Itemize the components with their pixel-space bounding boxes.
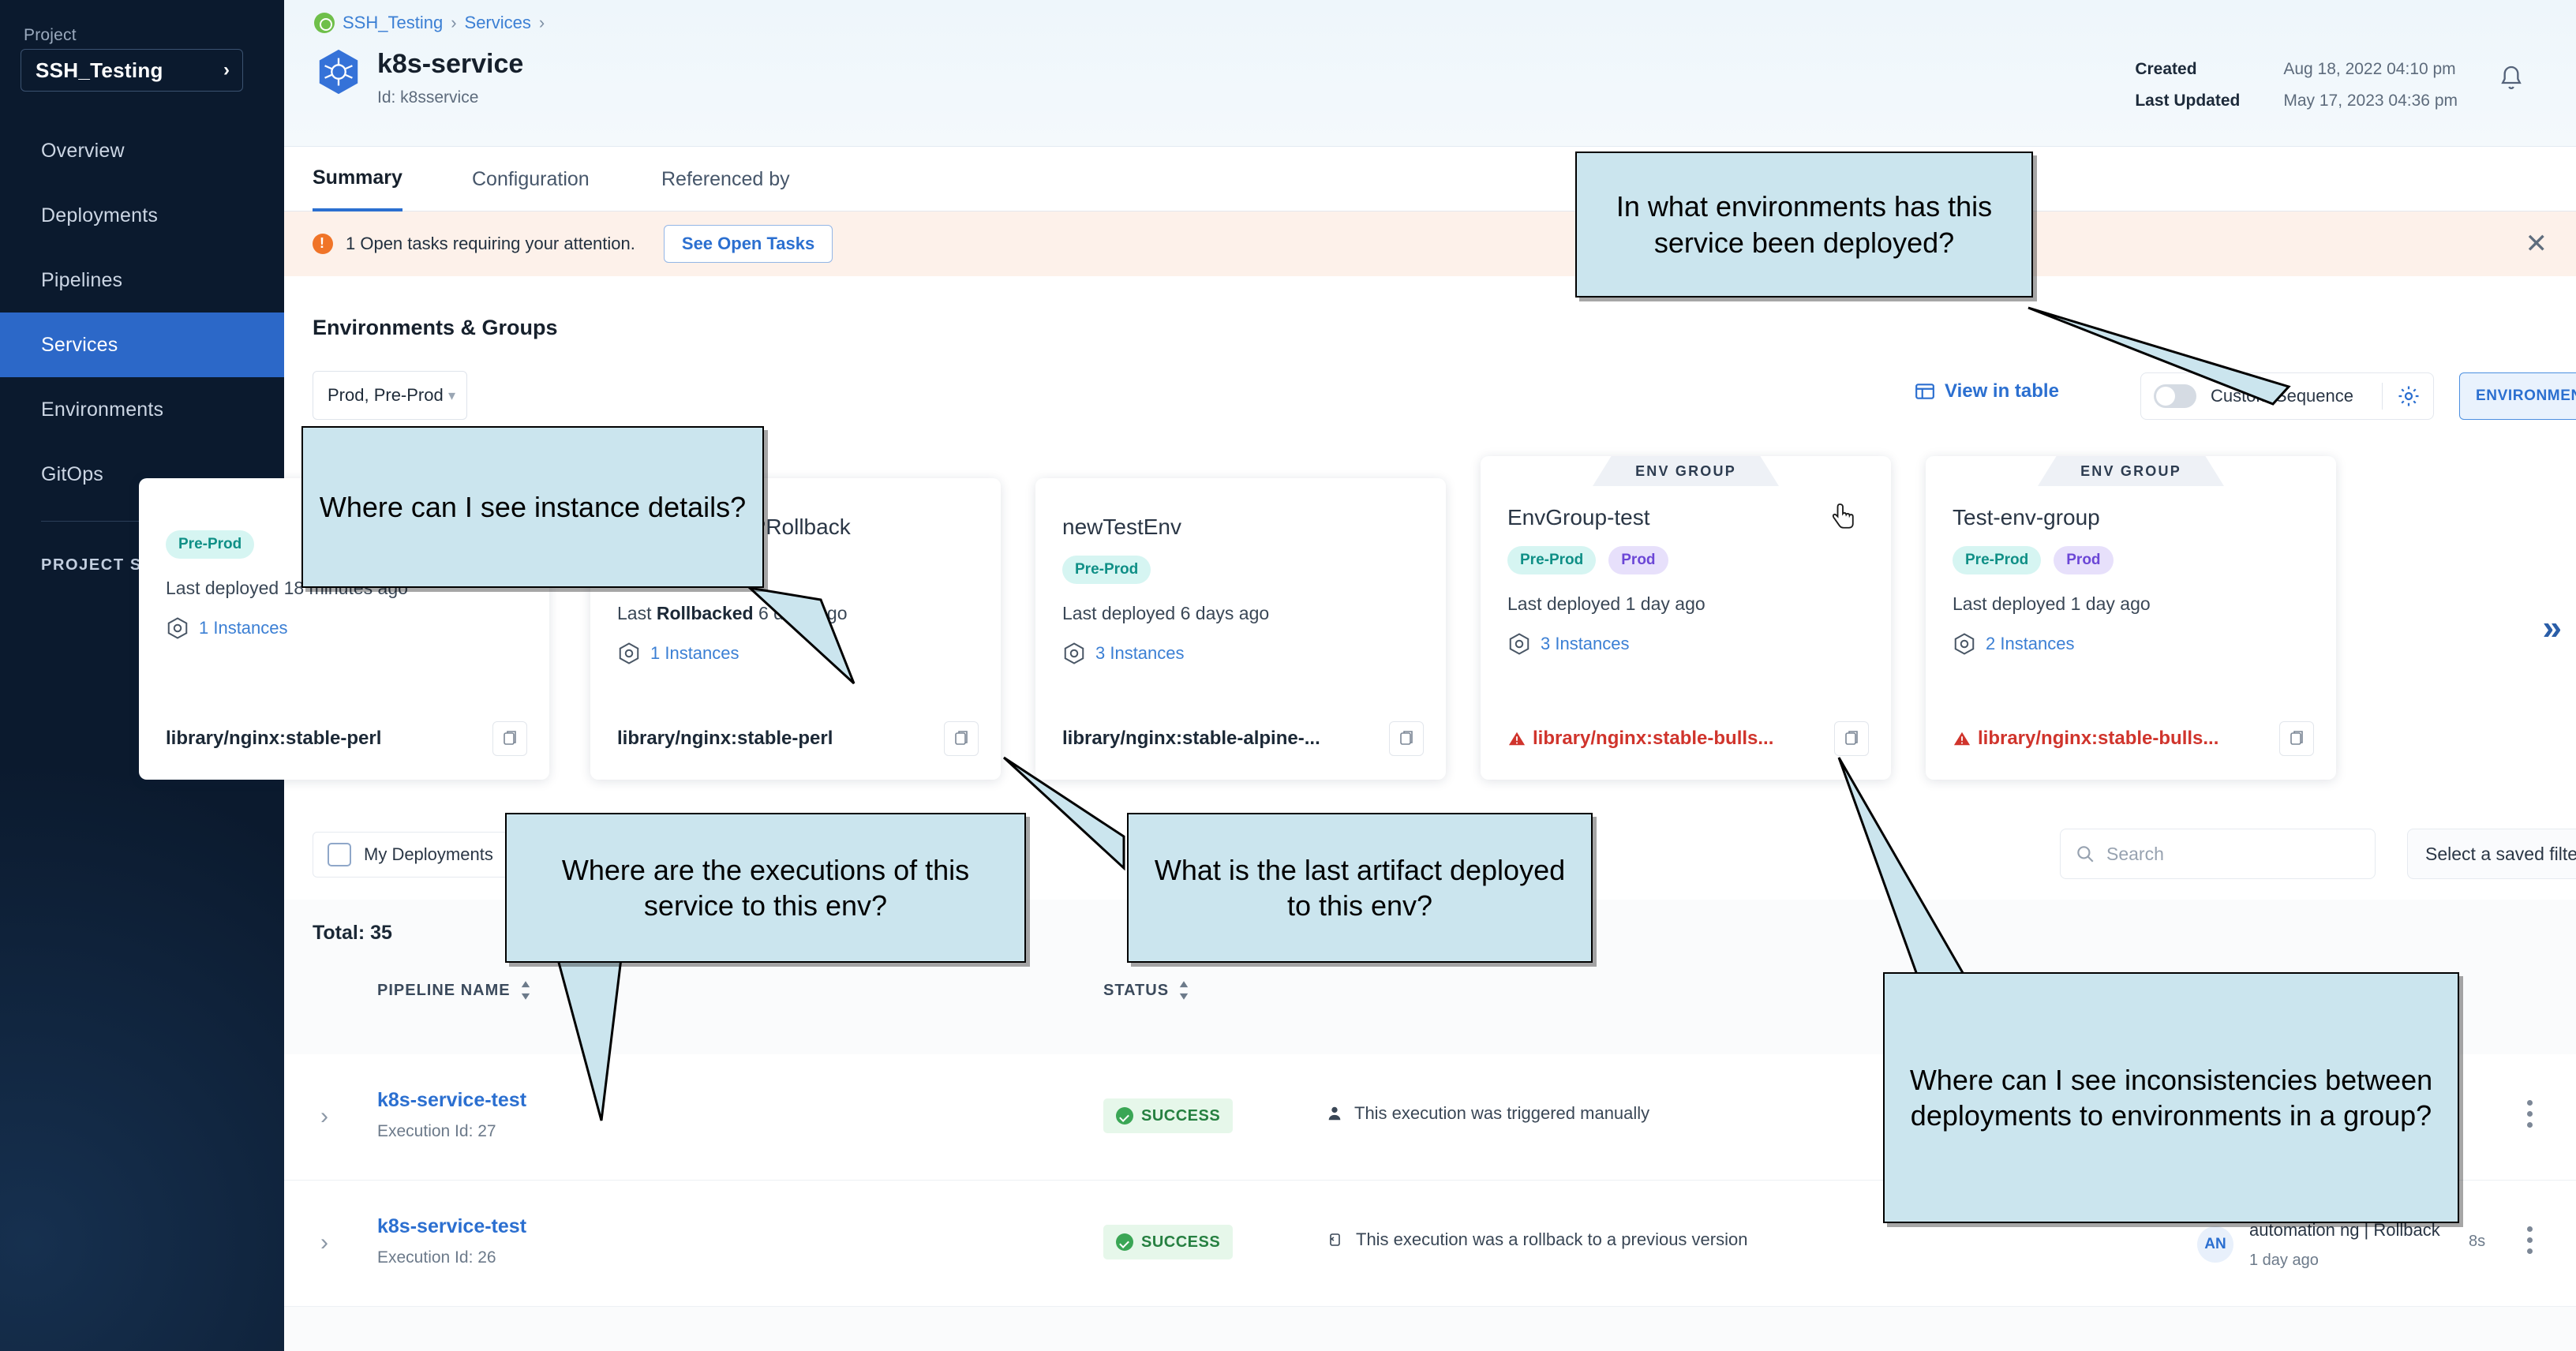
artifact-row: library/nginx:stable-bulls... <box>1953 721 2314 756</box>
tab-label: Referenced by <box>661 168 790 191</box>
created-label: Created <box>2135 54 2283 85</box>
sidebar-item-label: Services <box>41 334 118 357</box>
total-count: Total: 35 <box>313 922 392 945</box>
instances-hexagon-icon <box>166 616 189 640</box>
tab-bar: Summary Configuration Referenced by <box>284 147 2576 211</box>
sidebar-item-label: Pipelines <box>41 269 122 292</box>
environment-card-name: Test-env-group <box>1953 505 2309 530</box>
copy-artifact-button[interactable] <box>492 721 527 756</box>
copy-icon <box>1397 729 1416 748</box>
artifact-name: library/nginx:stable-bulls... <box>1507 728 1773 750</box>
artifact-name: library/nginx:stable-bulls... <box>1953 728 2218 750</box>
kubernetes-icon <box>314 47 363 96</box>
breadcrumb-services[interactable]: Services <box>465 13 531 33</box>
instances-hexagon-icon <box>1062 642 1086 665</box>
environment-type-chips: Pre-Prod Prod <box>1953 546 2309 574</box>
execution-duration: 8s <box>2469 1233 2485 1251</box>
segment-environments[interactable]: ENVIRONMENTS <box>2459 372 2576 420</box>
execution-id: Execution Id: 27 <box>377 1122 496 1141</box>
tab-referenced-by[interactable]: Referenced by <box>661 147 790 211</box>
project-avatar-icon <box>314 13 335 33</box>
search-icon <box>2075 844 2095 864</box>
expand-row-icon[interactable]: › <box>320 1231 328 1255</box>
column-label: STATUS <box>1103 982 1169 1000</box>
sidebar-item-deployments[interactable]: Deployments <box>0 183 284 248</box>
open-tasks-banner: 1 Open tasks requiring your attention. S… <box>284 211 2576 276</box>
my-deployments-checkbox[interactable] <box>328 843 351 866</box>
sidebar-item-label: Deployments <box>41 204 158 227</box>
sidebar-nav: Overview Deployments Pipelines Services … <box>0 118 284 507</box>
project-name: SSH_Testing <box>36 58 163 83</box>
artifact-name: library/nginx:stable-perl <box>166 728 381 750</box>
project-label: Project <box>24 26 77 45</box>
chip-pre-prod: Pre-Prod <box>1062 556 1151 584</box>
chevron-down-icon: ▾ <box>448 387 455 404</box>
environment-filter-value: Prod, Pre-Prod <box>328 385 444 406</box>
environment-type-chips: Pre-Prod Prod <box>1507 546 1864 574</box>
instances-hexagon-icon <box>1507 632 1531 656</box>
copy-icon <box>2287 729 2306 748</box>
artifact-row: library/nginx:stable-perl <box>166 721 527 756</box>
page-header: SSH_Testing › Services › k8s-service Id:… <box>284 0 2576 147</box>
callout-instance-details: Where can I see instance details? <box>301 426 764 588</box>
copy-icon <box>952 729 971 748</box>
status-label: SUCCESS <box>1141 1233 1220 1252</box>
search-box[interactable] <box>2060 829 2376 879</box>
sidebar-item-label: Environments <box>41 399 163 421</box>
notification-bell-icon[interactable] <box>2495 63 2527 95</box>
copy-icon <box>500 729 519 748</box>
pipeline-name-link[interactable]: k8s-service-test <box>377 1089 526 1112</box>
environment-group-card[interactable]: ENV GROUP EnvGroup-test Pre-Prod Prod La… <box>1481 456 1891 780</box>
callout-text: Where can I see instance details? <box>320 489 746 525</box>
page-title: k8s-service <box>377 49 523 80</box>
alert-icon <box>313 234 333 254</box>
artifact-name: library/nginx:stable-perl <box>617 728 833 750</box>
environment-filter-dropdown[interactable]: Prod, Pre-Prod ▾ <box>313 371 467 420</box>
last-deployed-text: Last deployed 1 day ago <box>1953 593 2309 615</box>
warning-icon <box>1507 730 1526 747</box>
view-mode-segmented-control: ENVIRONMENTS ARTIFACTS <box>2459 372 2576 420</box>
artifact-row: library/nginx:stable-perl <box>617 721 979 756</box>
artifact-row: library/nginx:stable-alpine-... <box>1062 721 1424 756</box>
row-menu-button[interactable] <box>2527 1226 2533 1259</box>
success-check-icon <box>1116 1233 1133 1251</box>
custom-sequence-control: Custom Sequence <box>2140 372 2434 420</box>
instances-link[interactable]: 2 Instances <box>1953 632 2309 656</box>
rollback-icon <box>1326 1230 1345 1249</box>
sidebar-item-label: Overview <box>41 140 125 163</box>
environment-card[interactable]: newTestEnv Pre-Prod Last deployed 6 days… <box>1035 478 1446 780</box>
callout-inconsistencies: Where can I see inconsistencies between … <box>1883 972 2459 1223</box>
next-cards-button[interactable]: » <box>2543 611 2562 646</box>
breadcrumb-separator-icon: › <box>539 13 545 33</box>
tab-configuration[interactable]: Configuration <box>472 147 590 211</box>
gear-icon[interactable] <box>2397 384 2421 408</box>
project-selector[interactable]: SSH_Testing › <box>21 49 243 92</box>
saved-filter-value: Select a saved filter <box>2425 844 2576 865</box>
column-header-pipeline-name[interactable]: PIPELINE NAME <box>377 980 531 1001</box>
row-menu-button[interactable] <box>2527 1100 2533 1133</box>
last-deployed-text: Last Rollbacked 6 days ago <box>617 603 974 624</box>
instances-count: 3 Instances <box>1095 643 1185 664</box>
sort-icon <box>520 980 531 1001</box>
artifact-row: library/nginx:stable-bulls... <box>1507 721 1869 756</box>
copy-icon <box>1842 729 1861 748</box>
sidebar-item-label: GitOps <box>41 463 103 486</box>
instances-count: 3 Instances <box>1541 634 1630 654</box>
sidebar-item-environments[interactable]: Environments <box>0 377 284 442</box>
last-deployed-text: Last deployed 1 day ago <box>1507 593 1864 615</box>
execution-id: Execution Id: 26 <box>377 1248 496 1267</box>
status-badge: SUCCESS <box>1103 1225 1233 1259</box>
artifact-text: library/nginx:stable-bulls... <box>1533 728 1773 750</box>
copy-artifact-button[interactable] <box>2279 721 2314 756</box>
copy-artifact-button[interactable] <box>944 721 979 756</box>
sidebar-item-overview[interactable]: Overview <box>0 118 284 183</box>
artifact-name: library/nginx:stable-alpine-... <box>1062 728 1320 750</box>
close-icon[interactable]: ✕ <box>2525 230 2548 257</box>
search-input[interactable] <box>2106 844 2343 865</box>
sidebar-item-pipelines[interactable]: Pipelines <box>0 248 284 312</box>
service-id: Id: k8sservice <box>377 88 478 107</box>
service-metadata: Created Aug 18, 2022 04:10 pm Last Updat… <box>2135 54 2458 117</box>
trigger-text: This execution was a rollback to a previ… <box>1356 1229 1747 1250</box>
pipeline-name-link[interactable]: k8s-service-test <box>377 1215 526 1238</box>
instances-count: 1 Instances <box>650 643 739 664</box>
callout-last-artifact: What is the last artifact deployed to th… <box>1127 813 1593 963</box>
banner-text: 1 Open tasks requiring your attention. <box>346 234 635 254</box>
see-open-tasks-button[interactable]: See Open Tasks <box>664 225 833 263</box>
chip-prod: Prod <box>1608 546 1668 574</box>
person-icon <box>1326 1103 1343 1124</box>
callout-executions: Where are the executions of this service… <box>505 813 1026 963</box>
sort-icon <box>1178 980 1189 1001</box>
copy-artifact-button[interactable] <box>1389 721 1424 756</box>
chip-pre-prod: Pre-Prod <box>166 530 254 559</box>
avatar: AN <box>2197 1226 2233 1263</box>
environments-section-title: Environments & Groups <box>313 316 558 340</box>
view-in-table-label: View in table <box>1945 380 2059 402</box>
my-deployments-filter[interactable]: My Deployments <box>313 832 511 878</box>
actor-timestamp: 1 day ago <box>2249 1252 2319 1270</box>
sidebar-item-services[interactable]: Services <box>0 312 284 377</box>
mouse-cursor-pointer-icon <box>1831 502 1858 533</box>
warning-icon <box>1953 730 1971 747</box>
artifact-text: library/nginx:stable-bulls... <box>1978 728 2218 750</box>
status-badge: SUCCESS <box>1103 1098 1233 1133</box>
chip-pre-prod: Pre-Prod <box>1507 546 1596 574</box>
table-icon <box>1915 381 1935 402</box>
copy-artifact-button[interactable] <box>1834 721 1869 756</box>
status-label: SUCCESS <box>1141 1107 1220 1125</box>
trigger-info: This execution was a rollback to a previ… <box>1326 1229 1747 1250</box>
breadcrumb-separator-icon: › <box>451 13 456 33</box>
tab-label: Configuration <box>472 168 590 191</box>
environment-card-name: newTestEnv <box>1062 515 1419 540</box>
segment-label: ENVIRONMENTS <box>2476 387 2576 405</box>
tab-label: Summary <box>313 167 402 189</box>
expand-row-icon[interactable]: › <box>320 1105 328 1128</box>
callout-text: Where are the executions of this service… <box>521 852 1010 924</box>
environment-card-name: EnvGroup-test <box>1507 505 1864 530</box>
environment-type-chips: Pre-Prod <box>1062 556 1419 584</box>
instances-link[interactable]: 1 Instances <box>166 616 522 640</box>
instances-link[interactable]: 3 Instances <box>1507 632 1864 656</box>
custom-sequence-label: Custom Sequence <box>2211 386 2353 406</box>
instances-link[interactable]: 3 Instances <box>1062 642 1419 665</box>
custom-sequence-toggle[interactable] <box>2154 384 2196 408</box>
trigger-text: This execution was triggered manually <box>1354 1103 1649 1124</box>
tab-summary[interactable]: Summary <box>313 147 402 211</box>
created-value: Aug 18, 2022 04:10 pm <box>2283 54 2455 85</box>
last-updated-label: Last Updated <box>2135 85 2283 117</box>
saved-filter-dropdown[interactable]: Select a saved filter ▾ <box>2407 829 2576 879</box>
callout-environments: In what environments has this service be… <box>1575 152 2033 298</box>
trigger-info: This execution was triggered manually <box>1326 1103 1649 1124</box>
instances-hexagon-icon <box>1953 632 1976 656</box>
view-in-table-button[interactable]: View in table <box>1915 380 2059 402</box>
callout-text: Where can I see inconsistencies between … <box>1899 1062 2443 1134</box>
instances-count: 1 Instances <box>199 618 288 638</box>
column-header-status[interactable]: STATUS <box>1103 980 1189 1001</box>
column-label: PIPELINE NAME <box>377 982 511 1000</box>
instances-link[interactable]: 1 Instances <box>617 642 974 665</box>
chevron-right-icon: › <box>223 59 230 81</box>
my-deployments-label: My Deployments <box>364 844 493 865</box>
environment-group-card[interactable]: ENV GROUP Test-env-group Pre-Prod Prod L… <box>1926 456 2336 780</box>
last-deployed-text: Last deployed 6 days ago <box>1062 603 1419 624</box>
last-updated-value: May 17, 2023 04:36 pm <box>2283 85 2458 117</box>
instances-count: 2 Instances <box>1986 634 2075 654</box>
chip-prod: Prod <box>2054 546 2113 574</box>
divider <box>2382 383 2383 410</box>
instances-hexagon-icon <box>617 642 641 665</box>
see-open-tasks-label: See Open Tasks <box>682 234 814 254</box>
callout-text: In what environments has this service be… <box>1591 189 2017 260</box>
chip-pre-prod: Pre-Prod <box>1953 546 2041 574</box>
success-check-icon <box>1116 1107 1133 1125</box>
callout-text: What is the last artifact deployed to th… <box>1143 852 1577 924</box>
breadcrumb-project[interactable]: SSH_Testing <box>343 13 443 33</box>
breadcrumb: SSH_Testing › Services › <box>314 13 545 33</box>
